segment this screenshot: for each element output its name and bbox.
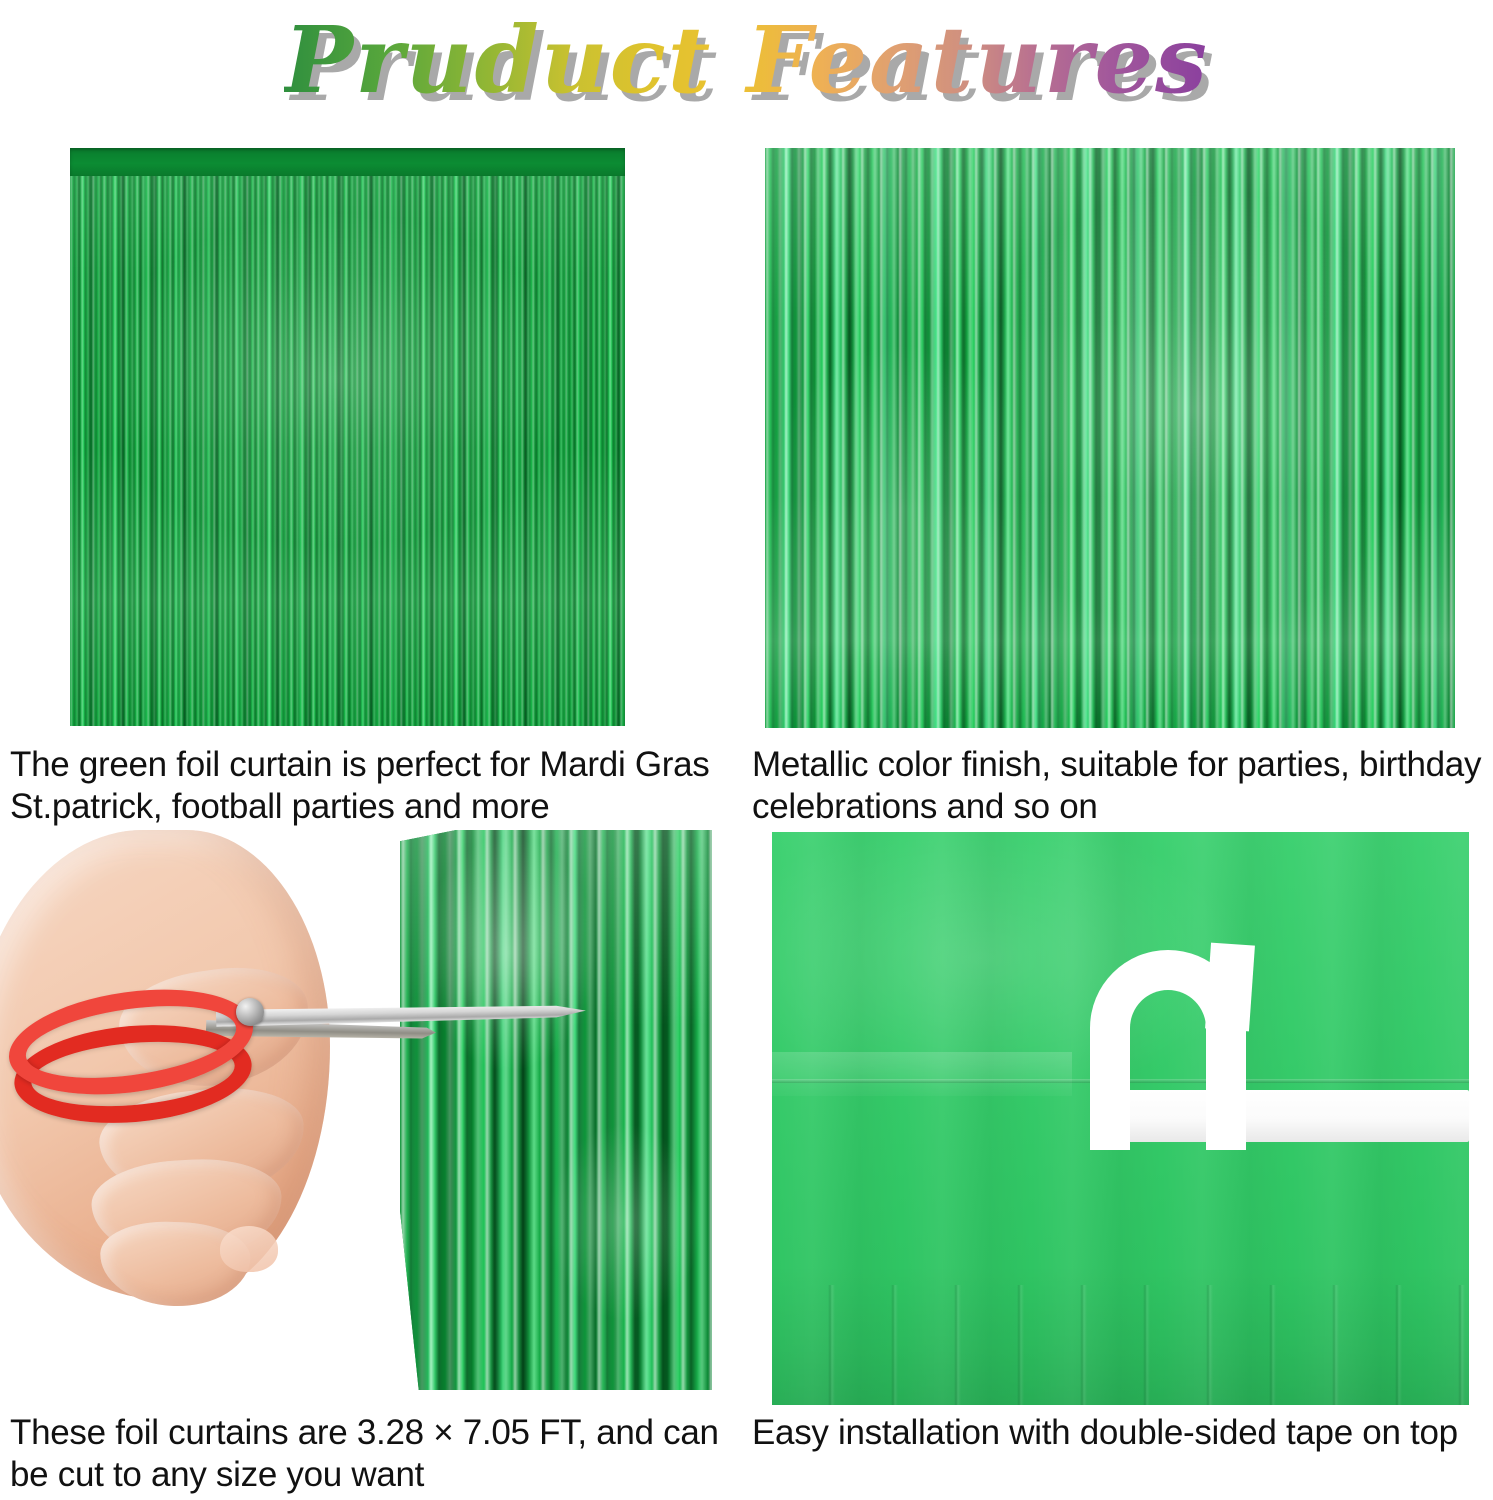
feature-caption-2: Metallic color finish, suitable for part… [752,744,1493,828]
feature-caption-1: The green foil curtain is perfect for Ma… [10,744,740,828]
page-title-stack: Pruduct Features Pruduct Features [284,10,1209,110]
fingernail [220,1226,278,1272]
feature-image-4 [772,832,1469,1405]
curtain-header-strip [70,148,625,176]
feature-caption-4: Easy installation with double-sided tape… [752,1412,1493,1454]
feature-image-3 [0,830,740,1390]
foil-seam-band [772,1052,1072,1096]
feature-image-2 [765,148,1455,728]
foil-closeup-sheen-overlay [765,148,1455,728]
tape-liner-peel-tip [1205,943,1255,1032]
feature-caption-3: These foil curtains are 3.28 × 7.05 FT, … [10,1412,740,1496]
page-title: Pruduct Features [284,6,1209,114]
feature-image-1 [70,148,625,726]
foil-cut-sheen-overlay [400,830,712,1390]
foil-bottom-shading [772,1265,1469,1405]
scissors-pivot-screw [236,998,264,1026]
foil-sheen-overlay [70,148,625,726]
page-title-banner: Pruduct Features Pruduct Features [0,0,1493,120]
